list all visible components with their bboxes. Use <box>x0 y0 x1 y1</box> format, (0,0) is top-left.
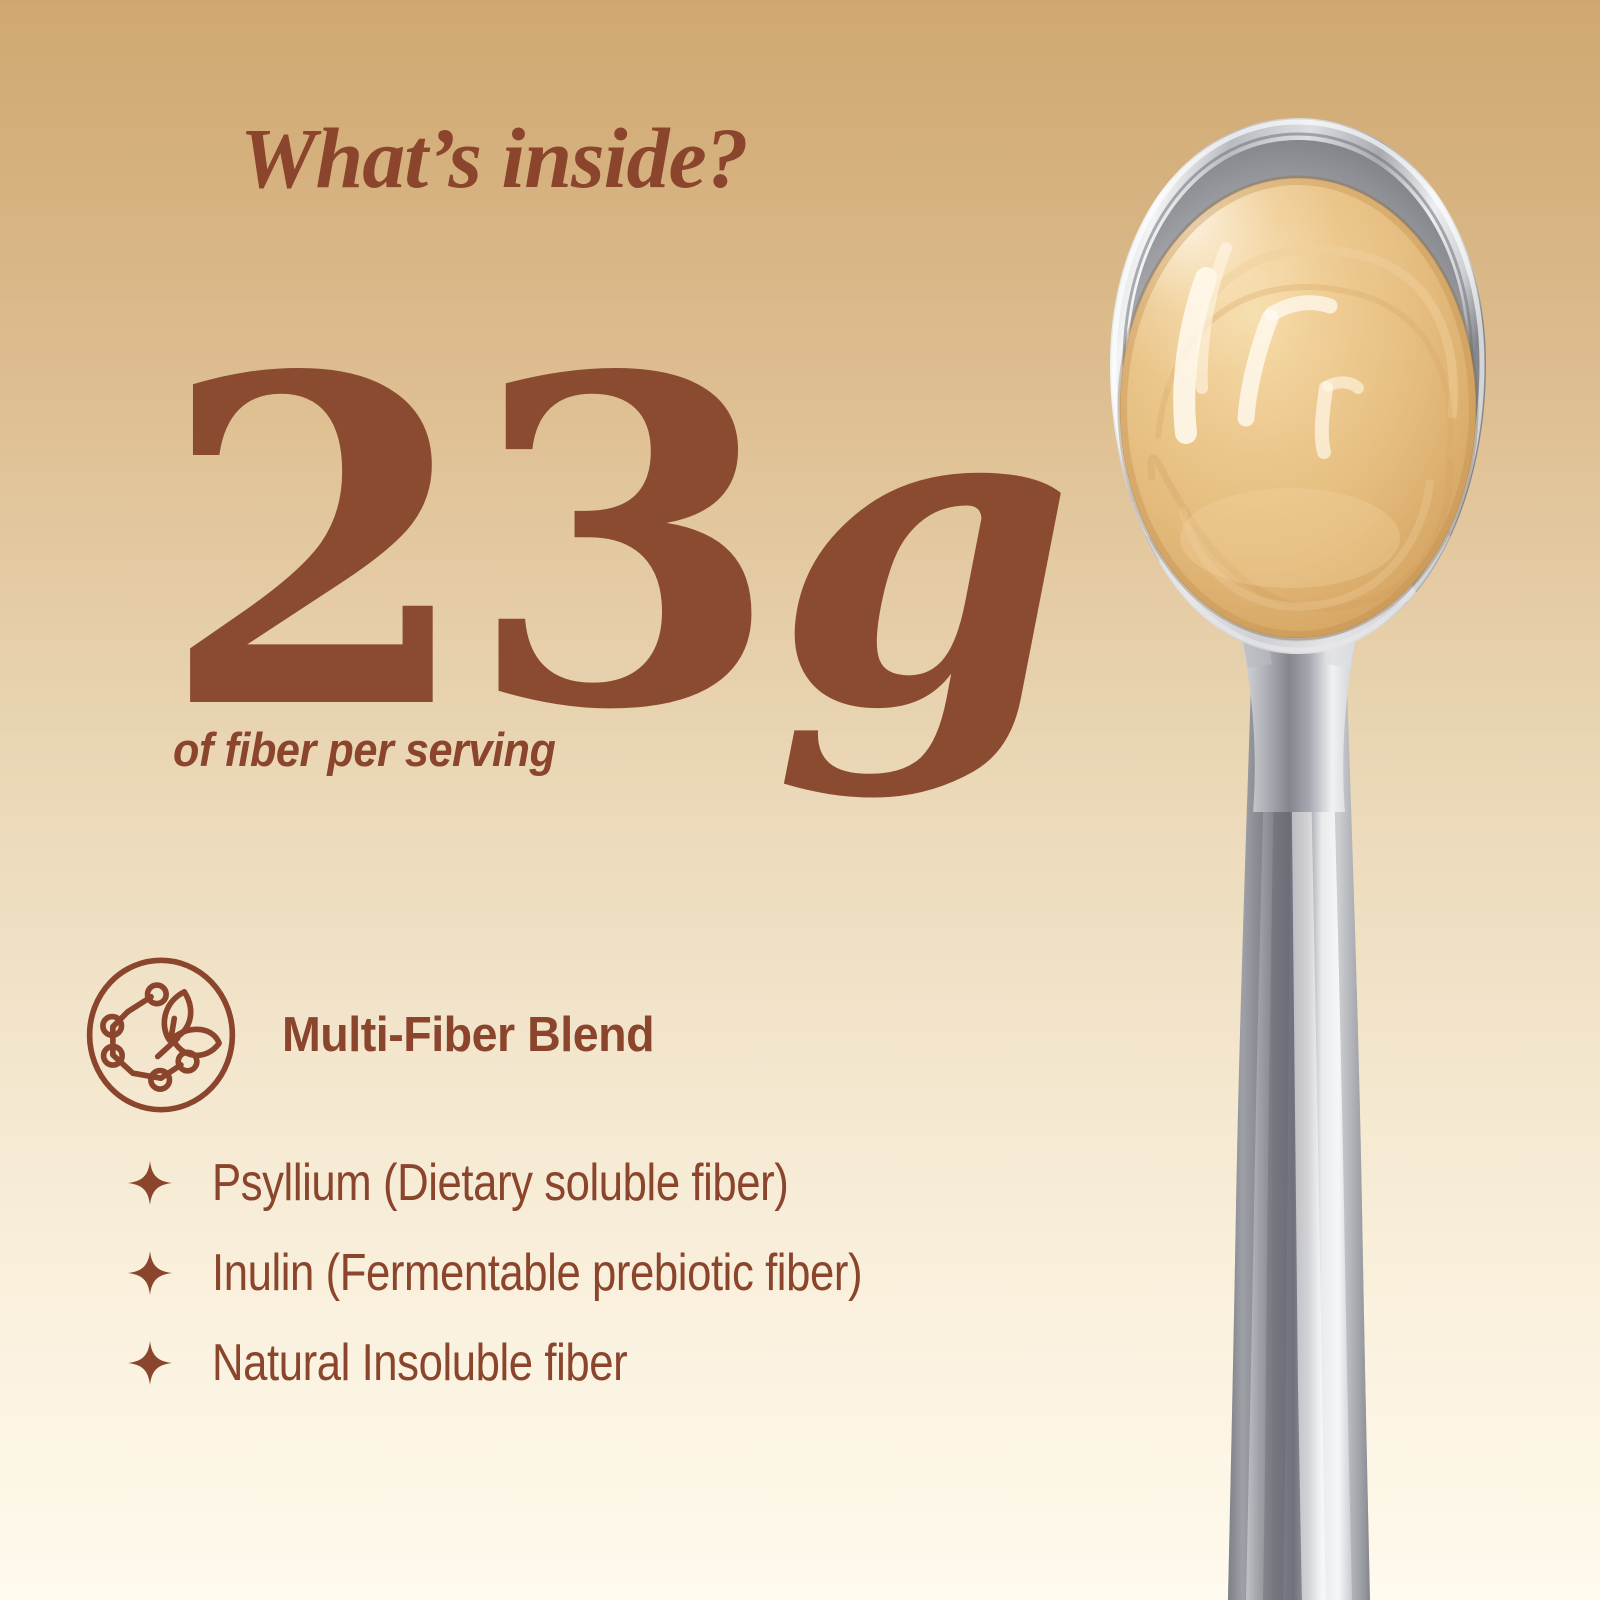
molecule-leaf-icon <box>78 952 244 1118</box>
page-title: What’s inside? <box>240 108 748 208</box>
feature-heading: Multi-Fiber Blend <box>78 952 674 1118</box>
list-item-label: Psyllium (Dietary soluble fiber) <box>212 1153 788 1213</box>
fiber-stat: 23g <box>160 320 1000 790</box>
product-infographic: What’s inside? 23g of fiber per serving <box>0 0 1600 1600</box>
list-item: Inulin (Fermentable prebiotic fiber) <box>128 1242 986 1304</box>
list-item: Natural Insoluble fiber <box>128 1332 986 1394</box>
fiber-stat-unit: g <box>774 299 1065 804</box>
sparkle-icon <box>128 1341 172 1385</box>
ingredient-list: Psyllium (Dietary soluble fiber) Inulin … <box>128 1152 986 1394</box>
fiber-stat-caption: of fiber per serving <box>173 722 555 777</box>
fiber-stat-number: 23g <box>160 320 1065 777</box>
list-item-label: Inulin (Fermentable prebiotic fiber) <box>212 1243 862 1303</box>
sparkle-icon <box>128 1251 172 1295</box>
list-item-label: Natural Insoluble fiber <box>212 1333 627 1393</box>
list-item: Psyllium (Dietary soluble fiber) <box>128 1152 986 1214</box>
spoon-with-fiber-gel-photo <box>1040 88 1560 1600</box>
sparkle-icon <box>128 1161 172 1205</box>
feature-heading-label: Multi-Fiber Blend <box>282 1007 654 1063</box>
